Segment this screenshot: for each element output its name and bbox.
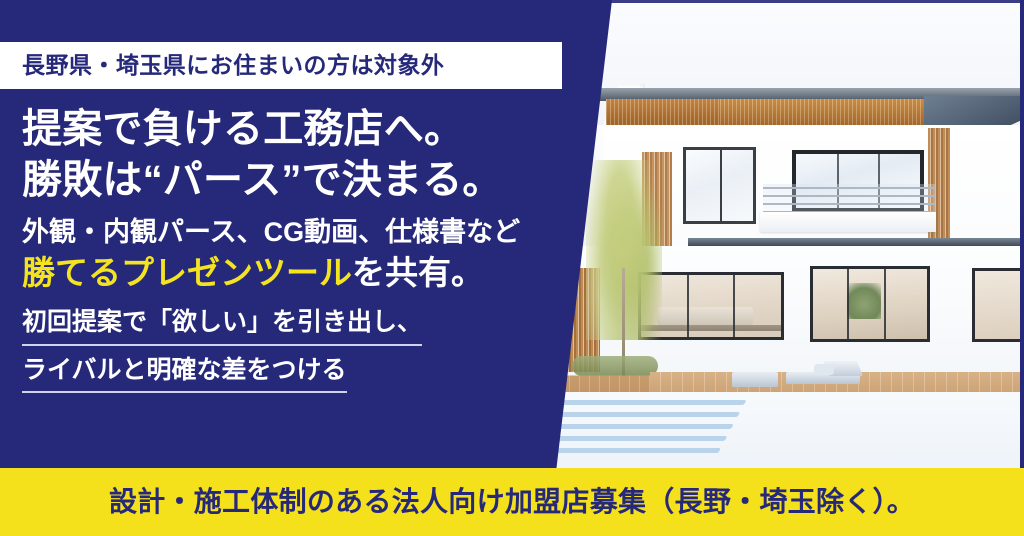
balcony-railing [763, 184, 935, 214]
subcopy-highlight: 勝てるプレゼンツール [22, 254, 352, 291]
entry-glazing [810, 266, 930, 342]
subcopy-line-1: 外観・内観パース、CG動画、仕様書など [22, 216, 582, 248]
deck-ottoman [732, 372, 778, 387]
photo-frame-right [1020, 0, 1024, 472]
promo-banner: 長野県・埼玉県にお住まいの方は対象外 提案で負ける工務店へ。 勝敗は“パース”で… [0, 0, 1024, 536]
headline-line-2: 勝敗は“パース”で決まる。 [22, 155, 582, 206]
balcony-slab [760, 212, 936, 232]
benefit-line-1: 初回提案で「欲しい」を引き出し、 [22, 307, 422, 346]
footer-text: 設計・施工体制のある法人向け加盟店募集（長野・埼玉除く）。 [109, 488, 915, 516]
hedge [572, 356, 658, 376]
eyebrow-banner: 長野県・埼玉県にお住まいの方は対象外 [0, 42, 562, 89]
subcopy-highlight-rest: を共有。 [352, 254, 484, 291]
footer-bar: 設計・施工体制のある法人向け加盟店募集（長野・埼玉除く）。 [0, 468, 1024, 536]
headline-line-1: 提案で負ける工務店へ。 [22, 104, 582, 155]
copy-block: 提案で負ける工務店へ。 勝敗は“パース”で決まる。 外観・内観パース、CG動画、… [22, 104, 582, 393]
eyebrow-text: 長野県・埼玉県にお住まいの方は対象外 [0, 54, 444, 77]
right-glazing [972, 268, 1024, 342]
subcopy-line-2: 勝てるプレゼンツールを共有。 [22, 253, 582, 293]
upper-left-window [683, 147, 756, 224]
benefit-line-2: ライバルと明確な差をつける [22, 355, 347, 394]
deck-lounger [786, 362, 860, 384]
